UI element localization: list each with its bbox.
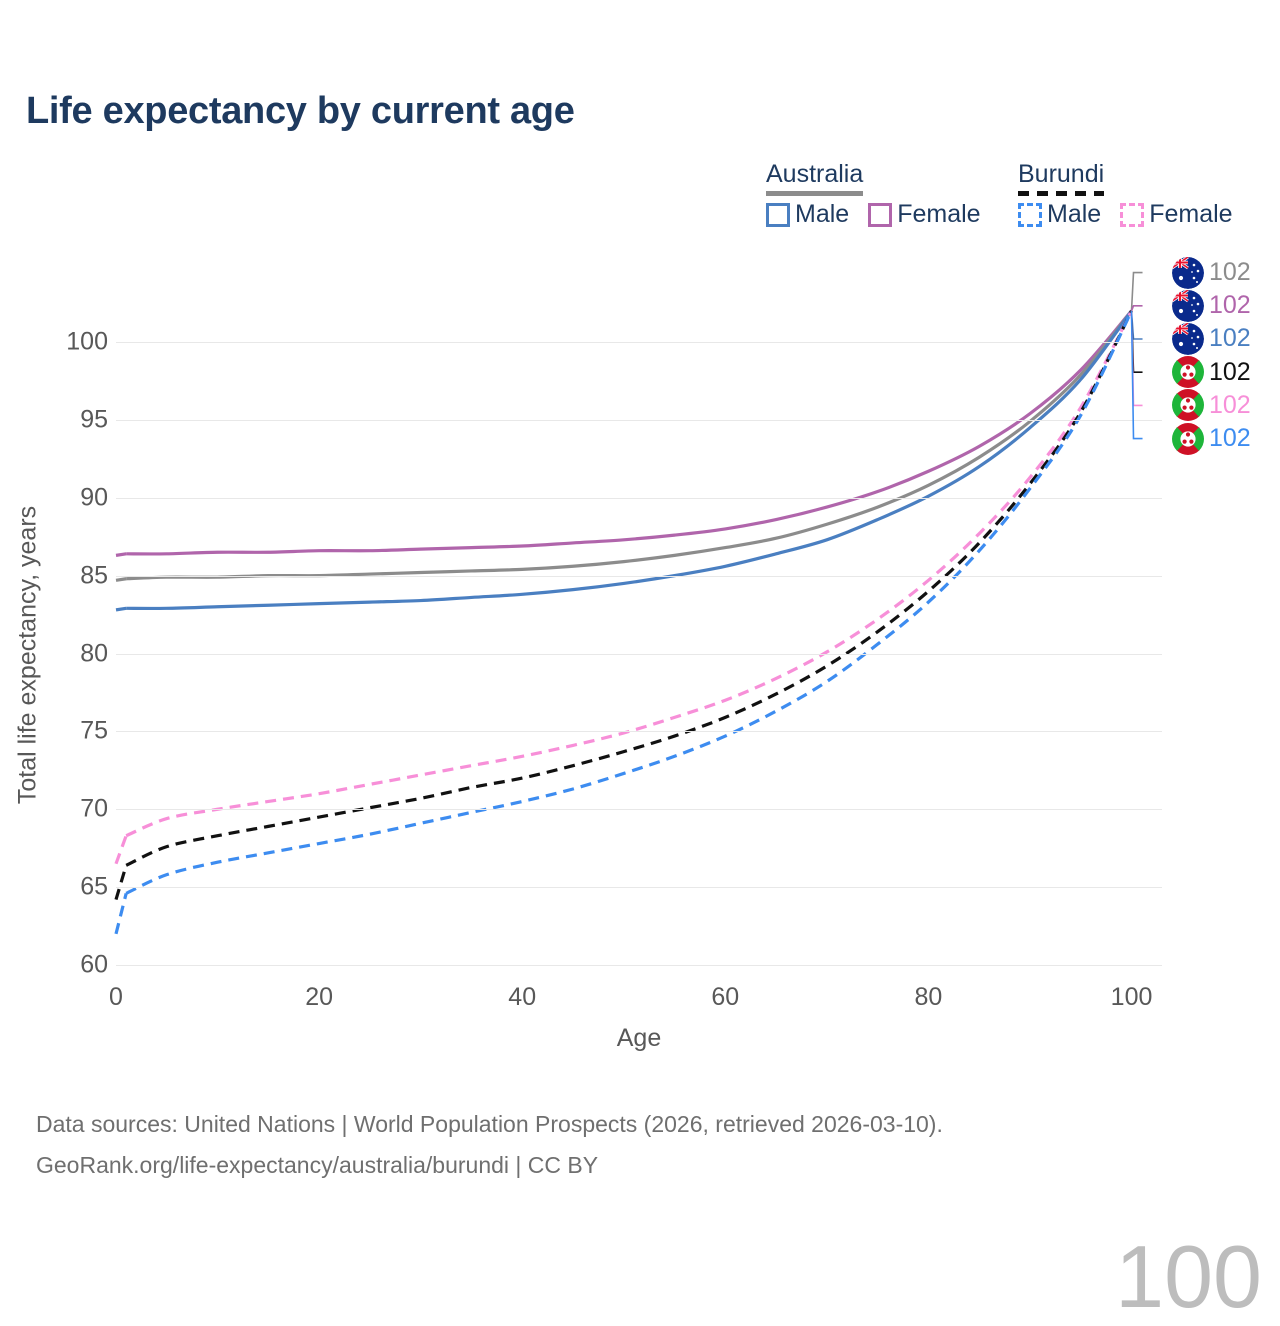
- end-label-value-australia-male: 102: [1209, 326, 1251, 351]
- series-line-burundi-female: [126, 311, 1131, 836]
- legend-item-australia-male[interactable]: Male: [766, 200, 849, 229]
- y-axis-tick-75: 75: [80, 717, 108, 746]
- end-label-burundi-total: 102: [1172, 356, 1251, 389]
- footer-line-2: GeoRank.org/life-expectancy/australia/bu…: [36, 1145, 943, 1186]
- legend-label-burundi-male: Male: [1047, 200, 1101, 229]
- legend-swatch-burundi-male: [1018, 203, 1042, 227]
- legend-group-burundi: Burundi Male Female: [1018, 160, 1104, 196]
- end-label-value-australia-total: 102: [1209, 260, 1251, 285]
- legend-item-burundi-female[interactable]: Female: [1120, 200, 1232, 229]
- australia-flag-icon: [1172, 290, 1204, 322]
- x-axis-title: Age: [617, 1024, 661, 1053]
- gridline-y-80: [116, 654, 1162, 655]
- series-line-australia-female-infant: [116, 554, 126, 556]
- series-line-burundi-total: [126, 311, 1131, 865]
- end-label-australia-male: 102: [1172, 322, 1251, 355]
- end-label-value-burundi-female: 102: [1209, 393, 1251, 418]
- gridline-y-100: [116, 342, 1162, 343]
- chart-plot-area: 100: [116, 342, 1162, 965]
- legend-swatch-burundi-female: [1120, 203, 1144, 227]
- end-label-value-burundi-total: 102: [1209, 360, 1251, 385]
- burundi-flag-icon: [1172, 423, 1204, 455]
- y-axis-tick-85: 85: [80, 561, 108, 590]
- gridline-y-95: [116, 420, 1162, 421]
- legend-group-title-burundi: Burundi: [1018, 160, 1104, 188]
- page-title: Life expectancy by current age: [26, 90, 575, 133]
- x-axis-tick-80: 80: [915, 983, 943, 1012]
- legend-label-australia-male: Male: [795, 200, 849, 229]
- gridline-y-90: [116, 498, 1162, 499]
- footer-line-1: Data sources: United Nations | World Pop…: [36, 1104, 943, 1145]
- x-axis-tick-100: 100: [1111, 983, 1153, 1012]
- chart-legend: Australia Male Female Burundi Male: [762, 160, 1252, 240]
- series-line-burundi-female-infant: [116, 836, 126, 864]
- x-axis-tick-20: 20: [305, 983, 333, 1012]
- leader-line-australia-total: [1132, 273, 1143, 311]
- gridline-y-85: [116, 576, 1162, 577]
- series-line-australia-female: [126, 311, 1131, 554]
- legend-swatch-australia-female: [868, 203, 892, 227]
- burundi-flag-icon: [1172, 356, 1204, 388]
- y-axis-tick-70: 70: [80, 795, 108, 824]
- y-axis-tick-100: 100: [66, 328, 108, 357]
- burundi-flag-icon: [1172, 389, 1204, 421]
- y-axis-tick-65: 65: [80, 873, 108, 902]
- legend-rule-dashed: [1018, 191, 1104, 196]
- legend-group-title-australia: Australia: [766, 160, 863, 188]
- x-axis-tick-0: 0: [109, 983, 123, 1012]
- y-axis-tick-95: 95: [80, 405, 108, 434]
- y-axis-tick-60: 60: [80, 951, 108, 980]
- x-axis-tick-40: 40: [508, 983, 536, 1012]
- series-line-australia-male: [126, 311, 1131, 609]
- legend-label-australia-female: Female: [897, 200, 980, 229]
- end-label-burundi-female: 102: [1172, 389, 1251, 422]
- y-axis-title: Total life expectancy, years: [14, 506, 43, 804]
- end-label-burundi-male: 102: [1172, 422, 1251, 455]
- gridline-y-60: [116, 965, 1162, 966]
- leader-line-australia-female: [1132, 306, 1143, 311]
- y-axis-tick-80: 80: [80, 639, 108, 668]
- gridline-y-65: [116, 887, 1162, 888]
- y-axis-tick-90: 90: [80, 483, 108, 512]
- legend-group-australia: Australia Male Female: [766, 160, 863, 196]
- australia-flag-icon: [1172, 323, 1204, 355]
- legend-item-australia-female[interactable]: Female: [868, 200, 980, 229]
- legend-label-burundi-female: Female: [1149, 200, 1232, 229]
- legend-rule-solid: [766, 191, 863, 196]
- legend-item-burundi-male[interactable]: Male: [1018, 200, 1101, 229]
- gridline-y-75: [116, 731, 1162, 732]
- series-line-australia-total-infant: [116, 579, 126, 581]
- x-axis-tick-60: 60: [711, 983, 739, 1012]
- end-label-australia-female: 102: [1172, 289, 1251, 322]
- end-label-value-australia-female: 102: [1209, 293, 1251, 318]
- end-label-australia-total: 102: [1172, 256, 1251, 289]
- leader-line-australia-male: [1132, 311, 1143, 339]
- series-line-burundi-male: [126, 311, 1131, 894]
- chart-footer: Data sources: United Nations | World Pop…: [36, 1104, 943, 1186]
- watermark-100: 100: [1115, 1233, 1262, 1321]
- legend-swatch-australia-male: [766, 203, 790, 227]
- end-label-value-burundi-male: 102: [1209, 426, 1251, 451]
- series-line-australia-male-infant: [116, 608, 126, 610]
- gridline-y-70: [116, 809, 1162, 810]
- australia-flag-icon: [1172, 257, 1204, 289]
